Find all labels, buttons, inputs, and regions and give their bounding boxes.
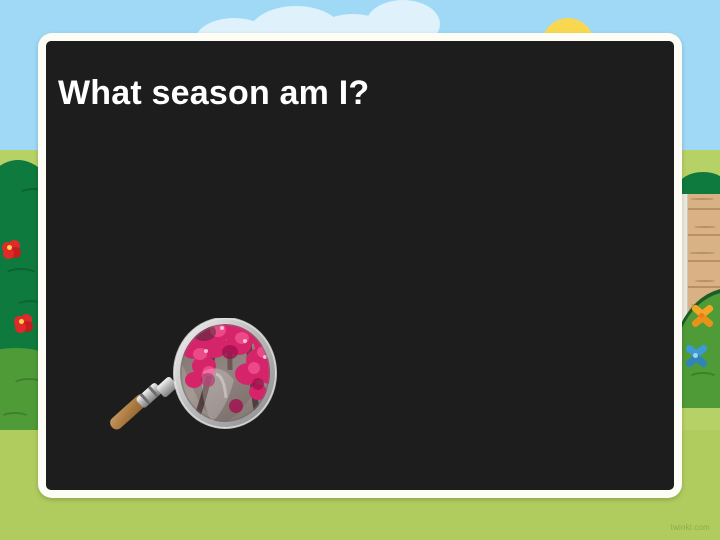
hill-texture [0, 412, 30, 424]
orange-flower-right [690, 304, 716, 330]
bush-texture [688, 372, 718, 385]
twinkl-watermark: twinkl.com [671, 523, 710, 532]
red-flower-left-upper [2, 240, 20, 258]
magnifier-handle [108, 376, 178, 432]
magnifying-glass-over-blossom-image [108, 318, 298, 448]
blue-flower-right [684, 344, 710, 370]
page-title: What season am I? [58, 74, 369, 113]
slide-canvas: What season am I? [0, 0, 720, 540]
red-flower-left-lower [14, 314, 32, 332]
bush-texture [4, 268, 38, 282]
